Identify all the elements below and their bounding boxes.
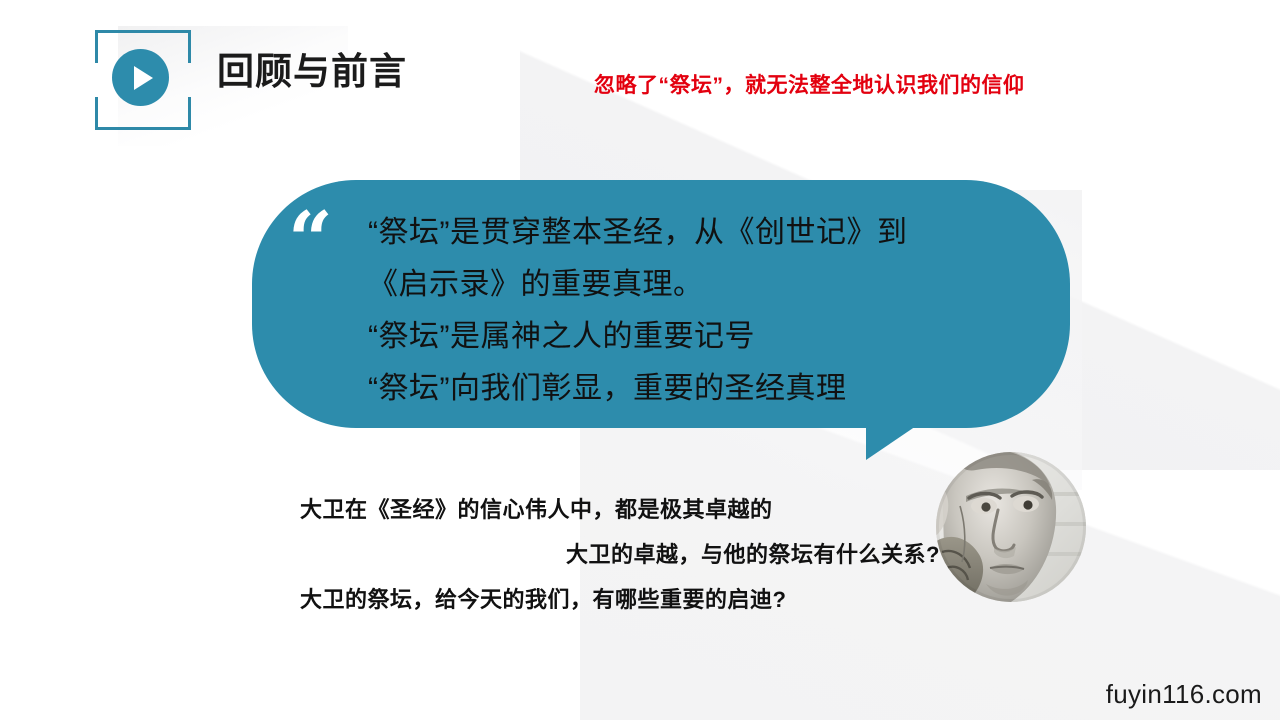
- play-triangle-icon: [134, 66, 153, 90]
- quote-line-1: “祭坛”是贯穿整本圣经，从《创世记》到: [368, 207, 1058, 259]
- question-line-2: 大卫的卓越，与他的祭坛有什么关系?: [300, 532, 940, 577]
- quote-line-2: 《启示录》的重要真理。: [368, 259, 1058, 311]
- question-line-3: 大卫的祭坛，给今天的我们，有哪些重要的启迪?: [300, 577, 940, 622]
- site-watermark: fuyin116.com: [1106, 679, 1262, 710]
- quote-line-3: “祭坛”是属神之人的重要记号: [368, 311, 1058, 363]
- quote-bubble-container: “ “祭坛”是贯穿整本圣经，从《创世记》到 《启示录》的重要真理。 “祭坛”是属…: [252, 180, 1070, 480]
- play-button-icon[interactable]: [112, 49, 169, 106]
- quote-bubble-tail: [866, 422, 922, 460]
- slide-header: 回顾与前言 忽略了“祭坛”，就无法整全地认识我们的信仰: [0, 0, 1280, 150]
- page-title: 回顾与前言: [217, 51, 407, 94]
- frame-corner-bottom-right: [150, 97, 191, 130]
- quote-text-block: “祭坛”是贯穿整本圣经，从《创世记》到 《启示录》的重要真理。 “祭坛”是属神之…: [368, 207, 1058, 415]
- question-line-1: 大卫在《圣经》的信心伟人中，都是极其卓越的: [300, 487, 940, 532]
- headline-text: 忽略了“祭坛”，就无法整全地认识我们的信仰: [594, 69, 1025, 99]
- david-statue-photo: [936, 452, 1086, 602]
- slide-canvas: 回顾与前言 忽略了“祭坛”，就无法整全地认识我们的信仰 “ “祭坛”是贯穿整本圣…: [0, 0, 1280, 720]
- quotation-mark-icon: “: [288, 202, 331, 280]
- question-text-block: 大卫在《圣经》的信心伟人中，都是极其卓越的 大卫的卓越，与他的祭坛有什么关系? …: [300, 487, 940, 622]
- quote-line-4: “祭坛”向我们彰显，重要的圣经真理: [368, 363, 1058, 415]
